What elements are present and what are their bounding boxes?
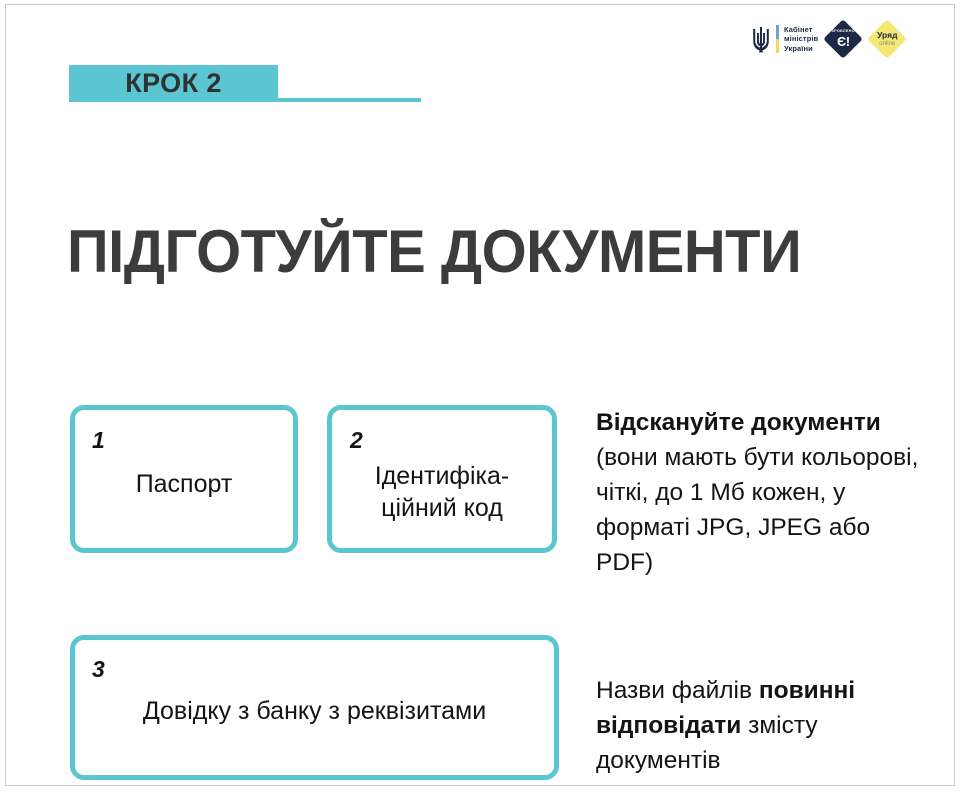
- note-1-bold-lead: Відскануйте документи: [596, 409, 881, 436]
- card-number: 2: [350, 429, 363, 452]
- diia-mark-text: Є!: [832, 35, 855, 48]
- step-badge: КРОК 2: [69, 65, 278, 102]
- card-label: Паспорт: [75, 468, 293, 500]
- uryad-sub-text: online: [877, 41, 897, 47]
- note-2-lead: Назви файлів: [596, 677, 759, 704]
- cabinet-line-3: України: [784, 44, 818, 53]
- note-file-names: Назви файлів повинні відповідати змісту …: [596, 673, 926, 778]
- note-1-rest: (вони мають бути кольорові, чіткі, до 1 …: [596, 444, 918, 576]
- logo-uryad-online-diamond: Уряд online: [868, 20, 906, 58]
- card-label: Ідентифіка- ційний код: [332, 460, 552, 524]
- page-title: ПІДГОТУЙТЕ ДОКУМЕНТИ: [67, 221, 897, 283]
- note-scan-documents: Відскануйте документи (вони мають бути к…: [596, 405, 926, 580]
- cabinet-line-1: Кабінет: [784, 25, 818, 34]
- uryad-diamond-inner: Уряд online: [877, 31, 897, 47]
- logo-cabinet-of-ministers: Кабінет міністрів України: [750, 24, 818, 54]
- ukraine-trident-icon: [750, 24, 772, 54]
- logo-bar: Кабінет міністрів України ЗРОБЛЕНО Є! Ур…: [750, 18, 906, 60]
- diia-diamond-inner: ЗРОБЛЕНО Є!: [832, 30, 855, 48]
- step-badge-rule: [278, 98, 421, 102]
- document-card-2: 2 Ідентифіка- ційний код: [327, 405, 557, 553]
- card-number: 3: [92, 658, 105, 681]
- card-number: 1: [92, 429, 105, 452]
- cabinet-line-2: міністрів: [784, 34, 818, 43]
- step-badge-label: КРОК 2: [125, 68, 222, 99]
- document-card-1: 1 Паспорт: [70, 405, 298, 553]
- logo-diia-diamond: ЗРОБЛЕНО Є!: [824, 20, 862, 58]
- cabinet-logo-text: Кабінет міністрів України: [784, 25, 818, 53]
- card-label: Довідку з банку з реквізитами: [75, 695, 554, 727]
- slide-canvas: Кабінет міністрів України ЗРОБЛЕНО Є! Ур…: [5, 4, 955, 786]
- uryad-word-text: Уряд: [877, 31, 897, 40]
- flag-divider: [776, 25, 779, 53]
- document-card-3: 3 Довідку з банку з реквізитами: [70, 635, 559, 780]
